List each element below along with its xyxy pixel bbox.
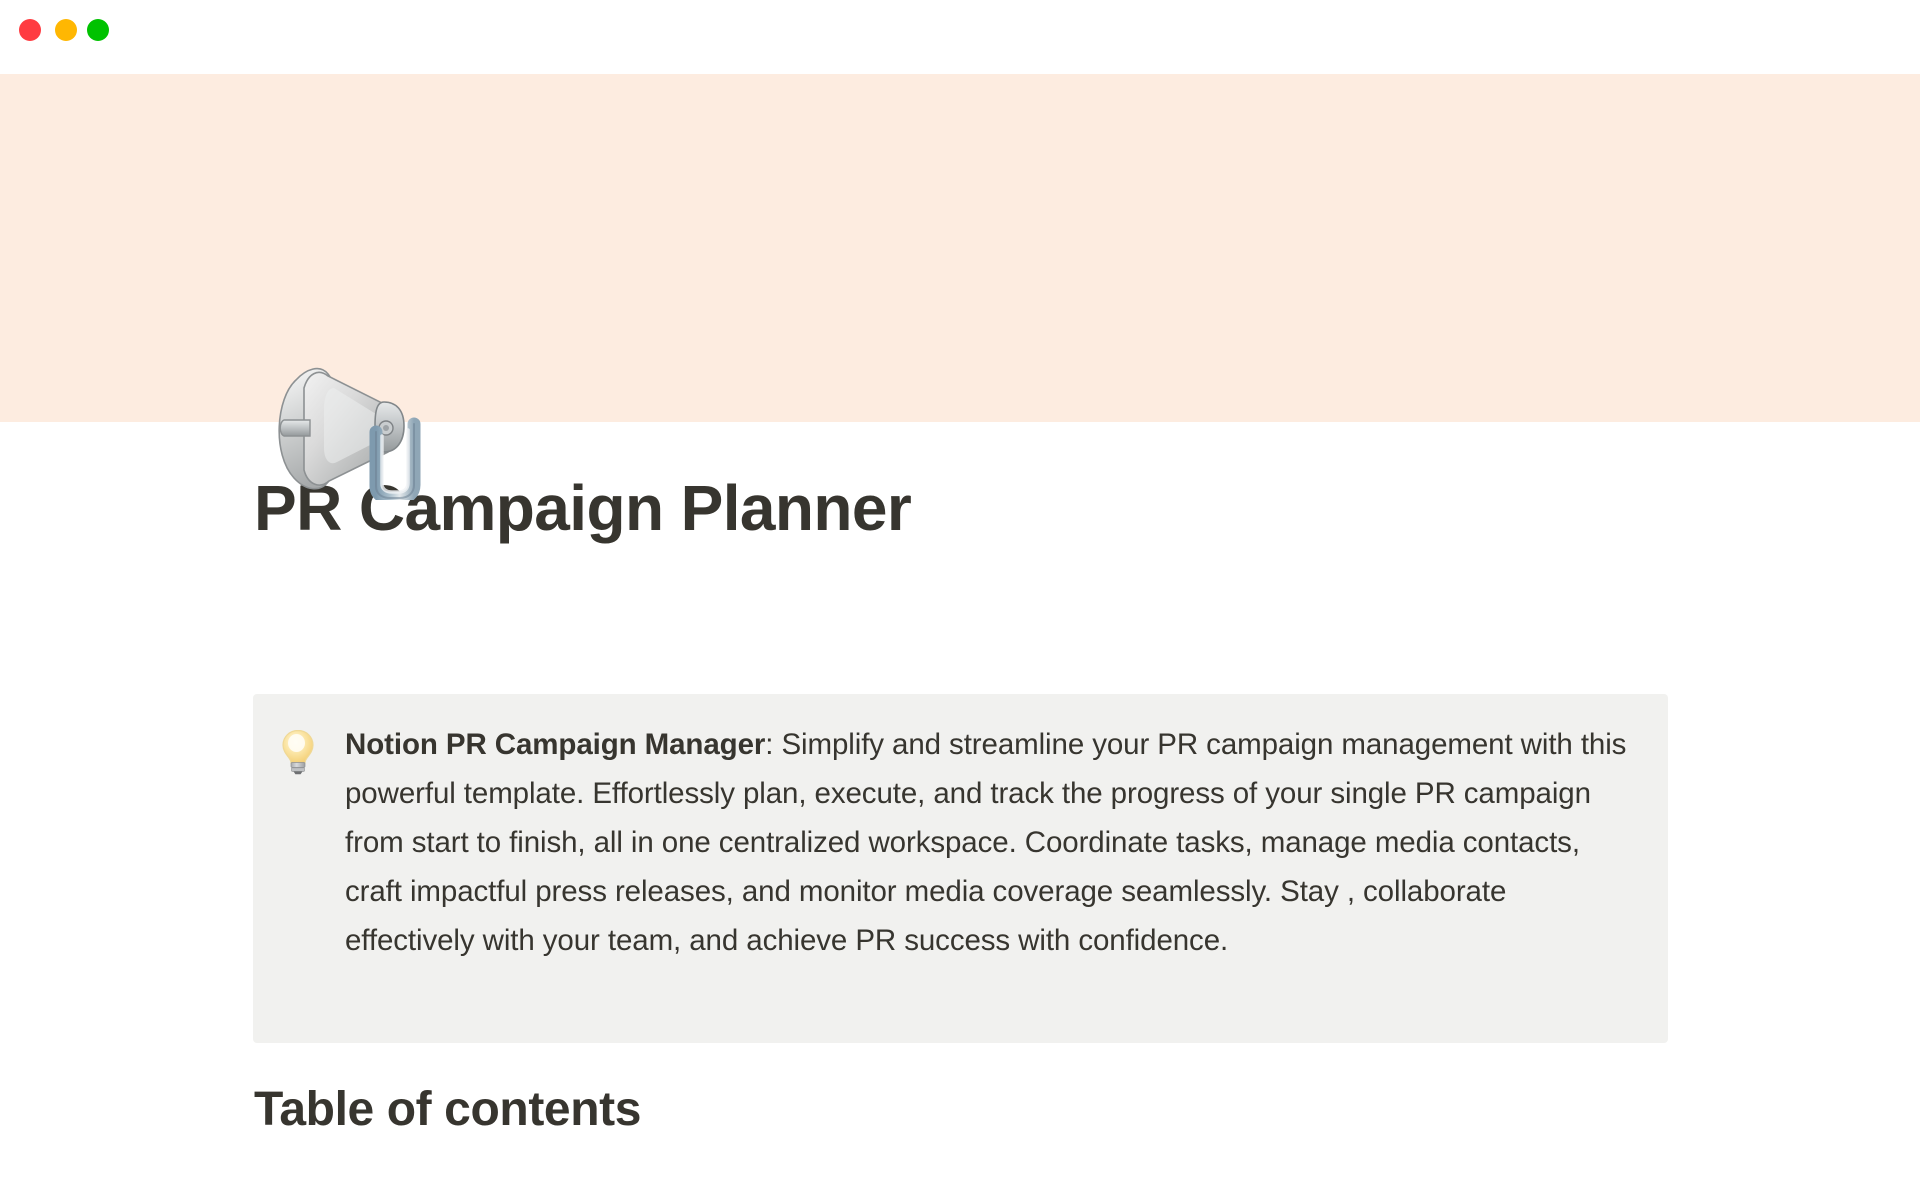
window-titlebar: [0, 0, 1920, 74]
callout-lead-text: Notion PR Campaign Manager: [345, 728, 765, 761]
document-content: PR Campaign Planner: [0, 422, 1920, 1200]
callout-text: Notion PR Campaign Manager: Simplify and…: [345, 720, 1630, 965]
minimize-window-button[interactable]: [55, 19, 77, 41]
loudspeaker-icon[interactable]: [258, 336, 422, 500]
page-title[interactable]: PR Campaign Planner: [254, 470, 1674, 547]
table-of-contents-heading[interactable]: Table of contents: [254, 1080, 641, 1140]
maximize-window-button[interactable]: [87, 19, 109, 41]
lightbulb-icon[interactable]: [279, 720, 345, 775]
close-window-button[interactable]: [19, 19, 41, 41]
callout-block[interactable]: Notion PR Campaign Manager: Simplify and…: [253, 694, 1668, 1043]
app-window: PR Campaign Planner: [0, 0, 1920, 1200]
callout-body-text: : Simplify and streamline your PR campai…: [345, 728, 1626, 957]
